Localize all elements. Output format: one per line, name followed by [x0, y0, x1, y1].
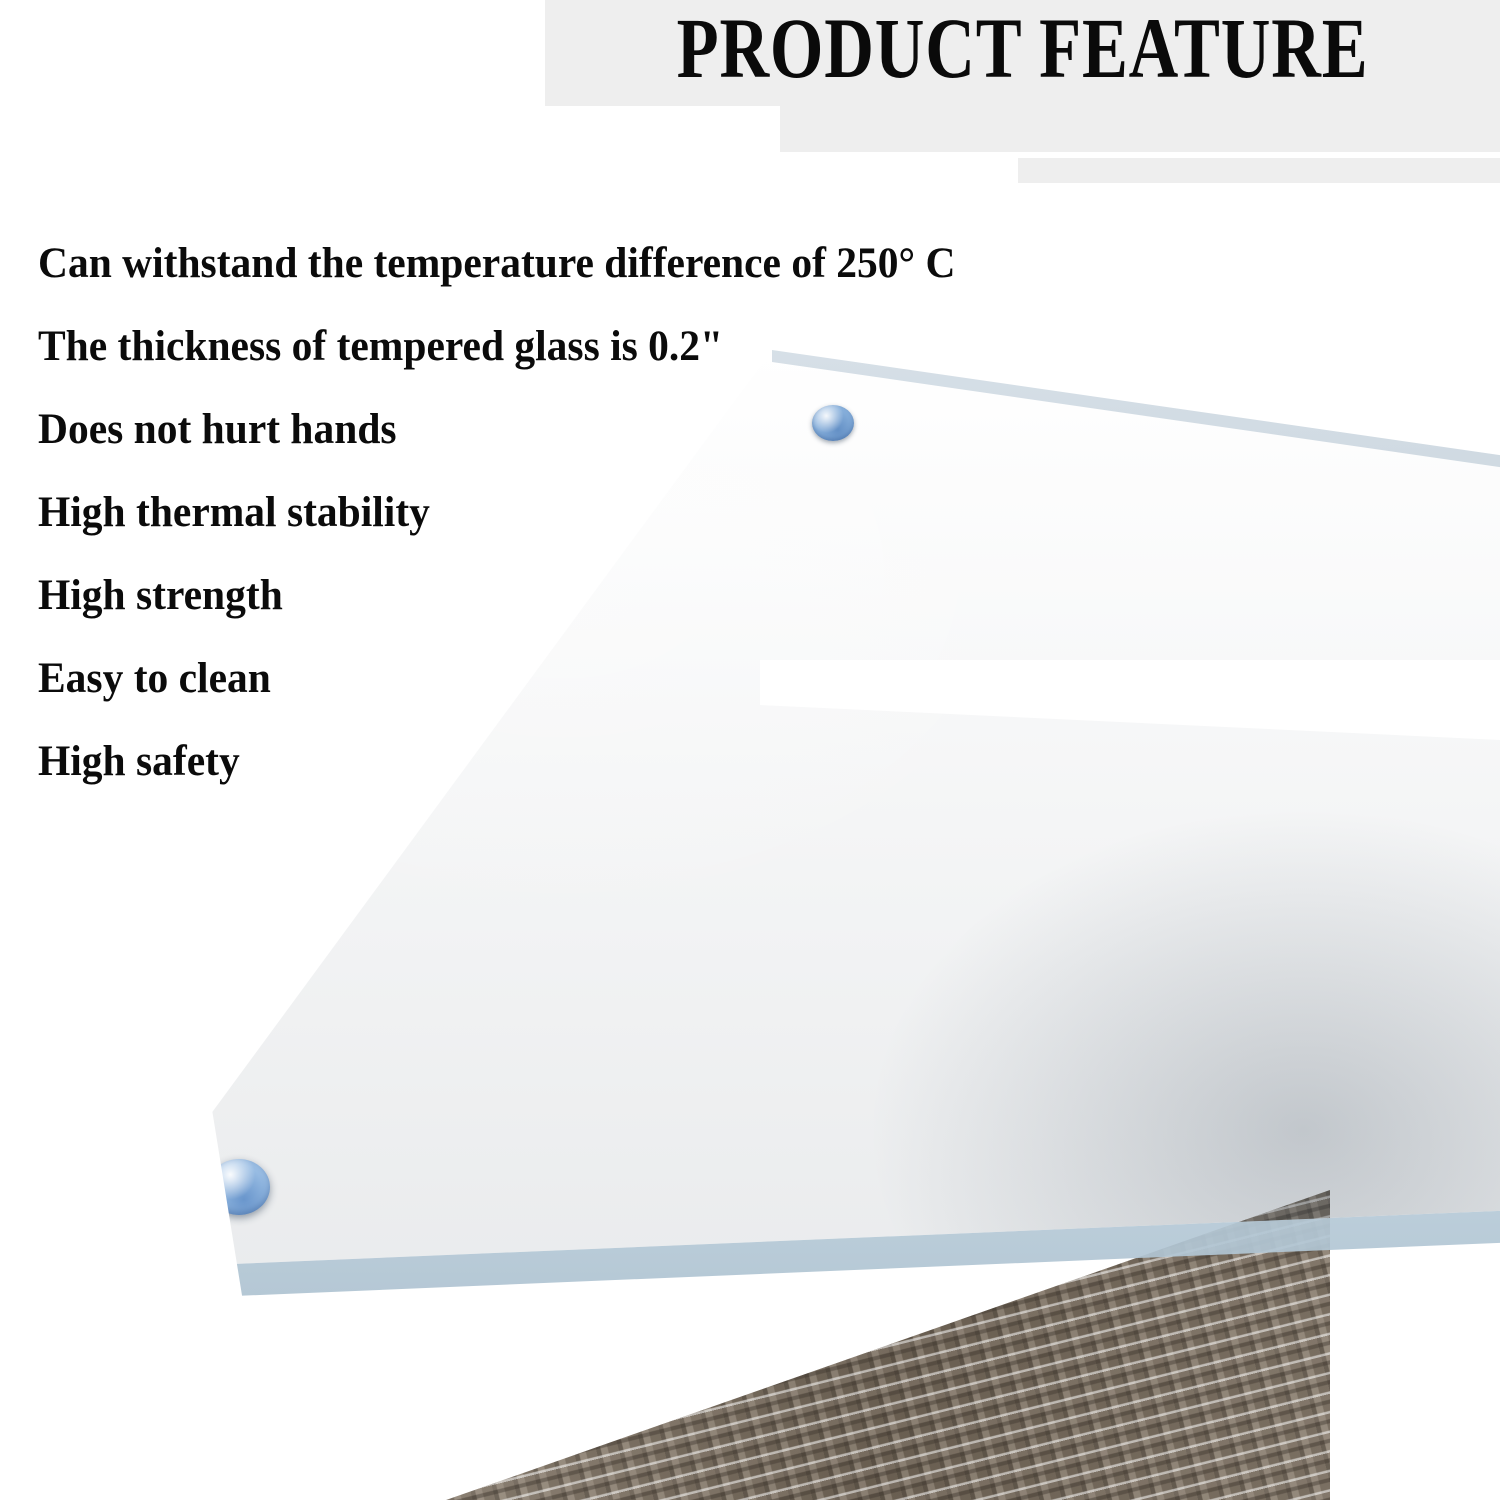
feature-item-4: High thermal stability	[38, 471, 1312, 554]
header-bar-tertiary	[1018, 158, 1500, 183]
product-feature-page: PRODUCT FEATURE Can withstand the temper…	[0, 0, 1500, 1500]
feature-item-2: The thickness of tempered glass is 0.2"	[38, 305, 1312, 388]
page-title: PRODUCT FEATURE	[641, 0, 1405, 106]
feature-item-7: High safety	[38, 720, 1312, 803]
feature-item-1: Can withstand the temperature difference…	[38, 222, 1312, 305]
header-bar-secondary	[780, 106, 1500, 152]
feature-item-6: Easy to clean	[38, 637, 1312, 720]
feature-list: Can withstand the temperature difference…	[38, 222, 1358, 803]
feature-item-3: Does not hurt hands	[38, 388, 1312, 471]
feature-item-5: High strength	[38, 554, 1312, 637]
